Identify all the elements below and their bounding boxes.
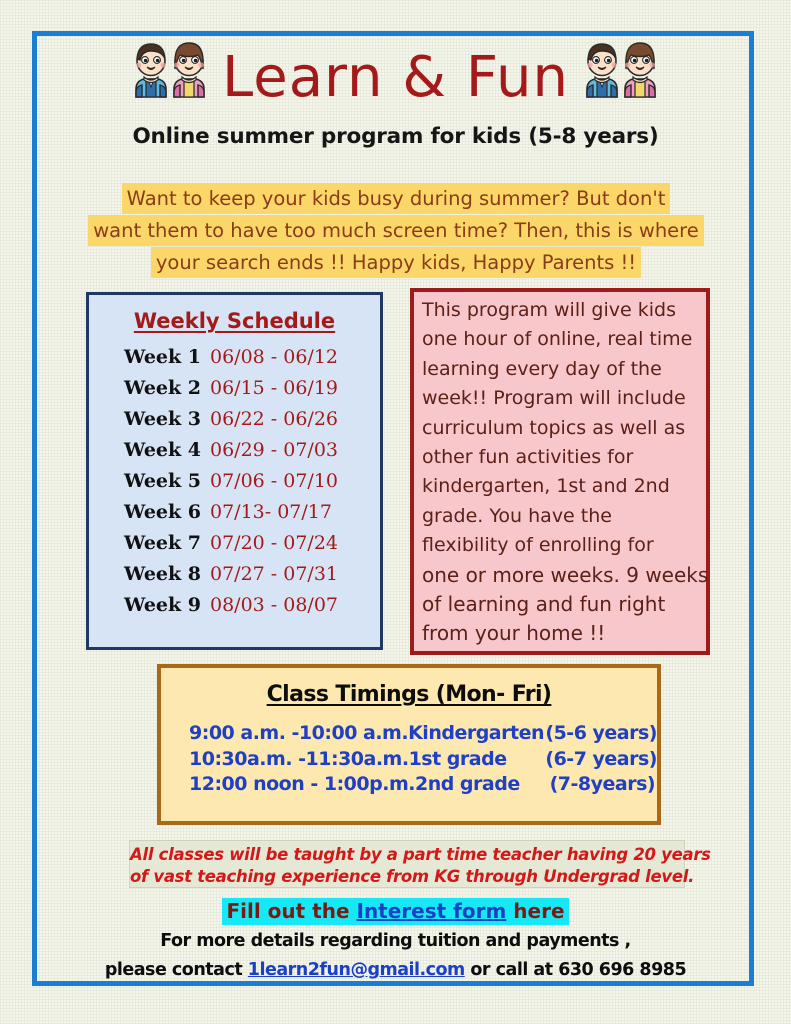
class-timings-title: Class Timings (Mon- Fri) <box>161 682 657 707</box>
contact-middle: or call at <box>465 960 558 980</box>
interest-form-link[interactable]: Interest form <box>357 899 507 923</box>
timing-grade: 2nd grade <box>415 772 550 798</box>
interest-form-row: Fill out the Interest form here <box>40 898 751 925</box>
intro-line-2: want them to have too much screen time? … <box>88 215 704 246</box>
program-line: This program will give kids <box>422 296 700 325</box>
interest-form-line: Fill out the Interest form here <box>222 898 568 925</box>
program-line: one or more weeks. 9 weeks <box>422 561 700 590</box>
header: Learn & Fun <box>40 38 751 118</box>
week-dates: 07/27 - 07/31 <box>210 559 360 590</box>
timing-time: 12:00 noon - 1:00p.m. <box>161 772 415 798</box>
page-title: Learn & Fun <box>222 50 569 106</box>
timing-age: (6-7 years) <box>545 747 657 773</box>
schedule-row: Week 4 06/29 - 07/03 <box>89 435 380 466</box>
week-label: Week 7 <box>109 528 210 559</box>
program-line: from your home !! <box>422 619 700 648</box>
week-label: Week 9 <box>109 590 210 621</box>
kids-pair-icon-left <box>128 39 212 118</box>
timing-grade: 1st grade <box>409 747 546 773</box>
contact-email-line: please contact 1learn2fun@gmail.com or c… <box>40 958 751 983</box>
week-label: Week 1 <box>109 342 210 373</box>
schedule-row: Week 6 07/13- 07/17 <box>89 497 380 528</box>
contact-block: Fill out the Interest form here For more… <box>40 898 751 983</box>
program-line: curriculum topics as well as <box>422 414 700 443</box>
schedule-row: Week 7 07/20 - 07/24 <box>89 528 380 559</box>
week-label: Week 2 <box>109 373 210 404</box>
interest-suffix: here <box>506 899 564 923</box>
schedule-row: Week 2 06/15 - 06/19 <box>89 373 380 404</box>
program-line: one hour of online, real time <box>422 325 700 354</box>
page-subtitle: Online summer program for kids (5-8 year… <box>40 124 751 149</box>
interest-prefix: Fill out the <box>226 899 356 923</box>
teacher-note-line-2: of vast teaching experience from KG thro… <box>130 866 684 888</box>
program-line: of learning and fun right <box>422 590 700 619</box>
timing-time: 9:00 a.m. -10:00 a.m. <box>161 721 408 747</box>
week-dates: 08/03 - 08/07 <box>210 590 360 621</box>
intro-line-1: Want to keep your kids busy during summe… <box>122 183 671 214</box>
program-description-box: This program will give kids one hour of … <box>410 288 710 655</box>
week-label: Week 6 <box>109 497 210 528</box>
week-label: Week 8 <box>109 559 210 590</box>
week-dates: 06/22 - 06/26 <box>210 404 360 435</box>
schedule-row: Week 9 08/03 - 08/07 <box>89 590 380 621</box>
weekly-schedule-title: Weekly Schedule <box>89 309 380 333</box>
week-dates: 07/20 - 07/24 <box>210 528 360 559</box>
program-line: flexibility of enrolling for <box>422 531 700 560</box>
timing-time: 10:30a.m. -11:30a.m. <box>161 747 409 773</box>
timing-age: (7-8years) <box>550 772 657 798</box>
schedule-row: Week 3 06/22 - 06/26 <box>89 404 380 435</box>
program-line: kindergarten, 1st and 2nd <box>422 472 700 501</box>
week-dates: 06/15 - 06/19 <box>210 373 360 404</box>
week-label: Week 5 <box>109 466 210 497</box>
flyer-content: Learn & Fun <box>0 0 791 1024</box>
contact-details-line: For more details regarding tuition and p… <box>40 929 751 954</box>
week-label: Week 4 <box>109 435 210 466</box>
week-dates: 06/08 - 06/12 <box>210 342 360 373</box>
timing-row: 9:00 a.m. -10:00 a.m. Kindergarten (5-6 … <box>161 721 657 747</box>
kids-pair-icon-right <box>579 39 663 118</box>
week-dates: 07/06 - 07/10 <box>210 466 360 497</box>
week-dates: 06/29 - 07/03 <box>210 435 360 466</box>
schedule-row: Week 1 06/08 - 06/12 <box>89 342 380 373</box>
program-line: other fun activities for <box>422 443 700 472</box>
program-line: learning every day of the <box>422 355 700 384</box>
intro-paragraph: Want to keep your kids busy during summe… <box>56 183 736 279</box>
program-line: week!! Program will include <box>422 384 700 413</box>
program-line: grade. You have the <box>422 502 700 531</box>
teacher-note-line-1: All classes will be taught by a part tim… <box>130 844 684 866</box>
timing-grade: Kindergarten <box>408 721 545 747</box>
week-label: Week 3 <box>109 404 210 435</box>
schedule-row: Week 8 07/27 - 07/31 <box>89 559 380 590</box>
intro-line-3: your search ends !! Happy kids, Happy Pa… <box>151 247 641 278</box>
phone-number: 630 696 8985 <box>558 960 686 980</box>
schedule-row: Week 5 07/06 - 07/10 <box>89 466 380 497</box>
timing-row: 12:00 noon - 1:00p.m. 2nd grade (7-8year… <box>161 772 657 798</box>
timing-age: (5-6 years) <box>545 721 657 747</box>
week-dates: 07/13- 07/17 <box>210 497 360 528</box>
timing-row: 10:30a.m. -11:30a.m. 1st grade (6-7 year… <box>161 747 657 773</box>
weekly-schedule-box: Weekly Schedule Week 1 06/08 - 06/12 Wee… <box>86 292 383 650</box>
contact-prefix: please contact <box>105 960 248 980</box>
teacher-note: All classes will be taught by a part tim… <box>129 840 685 888</box>
email-link[interactable]: 1learn2fun@gmail.com <box>248 960 465 980</box>
class-timings-box: Class Timings (Mon- Fri) 9:00 a.m. -10:0… <box>157 664 661 825</box>
